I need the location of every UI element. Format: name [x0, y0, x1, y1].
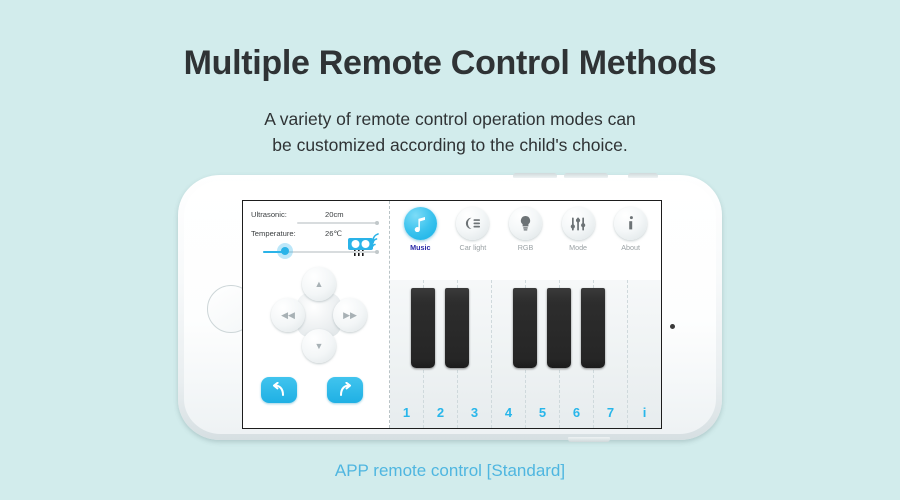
- temperature-readout: Temperature: 26℃: [251, 229, 296, 238]
- temperature-label: Temperature:: [251, 229, 296, 238]
- tab-about-circle: [614, 207, 647, 240]
- rotate-left-button[interactable]: [261, 377, 297, 403]
- mute-switch[interactable]: [628, 173, 658, 178]
- tab-about[interactable]: About: [609, 207, 653, 252]
- piano-black-key[interactable]: [445, 288, 469, 368]
- piano-white-key[interactable]: 4: [492, 280, 526, 428]
- rotate-right-icon: [336, 382, 354, 398]
- piano-key-label: 1: [390, 405, 423, 420]
- piano-black-key[interactable]: [411, 288, 435, 368]
- ultrasonic-sensor-icon: [347, 231, 381, 259]
- page-subtitle-line-2: be customized according to the child's c…: [0, 132, 900, 158]
- control-panel: Ultrasonic: 20cm Temperature: 26℃: [243, 201, 390, 428]
- tab-music[interactable]: Music: [398, 207, 442, 252]
- piano-white-key[interactable]: i: [628, 280, 661, 428]
- figure-caption: APP remote control [Standard]: [0, 461, 900, 481]
- page-subtitle: A variety of remote control operation mo…: [0, 106, 900, 158]
- page-subtitle-line-1: A variety of remote control operation mo…: [0, 106, 900, 132]
- phone-body: Ultrasonic: 20cm Temperature: 26℃: [184, 181, 716, 434]
- arrow-left-icon: ◀◀: [281, 310, 295, 321]
- music-note-icon: [413, 216, 428, 232]
- ultrasonic-readout: Ultrasonic: 20cm: [251, 210, 287, 219]
- tab-car-light-label: Car light: [451, 243, 495, 252]
- ultrasonic-value: 20cm: [325, 210, 344, 219]
- page-title: Multiple Remote Control Methods: [0, 44, 900, 83]
- piano-black-key[interactable]: [513, 288, 537, 368]
- tab-rgb-label: RGB: [503, 243, 547, 252]
- dpad-right-button[interactable]: ▶▶: [333, 298, 367, 332]
- tab-music-label: Music: [398, 243, 442, 252]
- tab-rgb[interactable]: RGB: [503, 207, 547, 252]
- phone-screen: Ultrasonic: 20cm Temperature: 26℃: [242, 200, 662, 429]
- ultrasonic-track-end-dot: [375, 221, 379, 225]
- lightbulb-icon: [519, 215, 532, 232]
- tab-car-light[interactable]: Car light: [451, 207, 495, 252]
- piano-keyboard: 1 2 3 4 5: [390, 280, 661, 428]
- piano-key-label: 2: [424, 405, 457, 420]
- tab-rgb-circle: [509, 207, 542, 240]
- ambient-light-sensor: [670, 324, 675, 329]
- tab-mode[interactable]: Mode: [556, 207, 600, 252]
- headlight-icon: [464, 217, 481, 230]
- info-icon: [626, 215, 636, 232]
- rotate-right-button[interactable]: [327, 377, 363, 403]
- arrow-up-icon: ▲: [315, 279, 324, 289]
- tab-mode-circle: [562, 207, 595, 240]
- rotate-left-icon: [270, 382, 288, 398]
- arrow-down-icon: ▼: [315, 341, 324, 351]
- tab-car-light-circle: [456, 207, 489, 240]
- tab-music-circle: [404, 207, 437, 240]
- piano-black-key[interactable]: [547, 288, 571, 368]
- piano-key-label: 7: [594, 405, 627, 420]
- power-button[interactable]: [568, 437, 610, 442]
- tab-about-label: About: [609, 243, 653, 252]
- dpad-down-button[interactable]: ▼: [302, 329, 336, 363]
- speed-slider-handle[interactable]: [277, 243, 293, 259]
- smartphone-device: Ultrasonic: 20cm Temperature: 26℃: [178, 175, 722, 440]
- dpad-left-button[interactable]: ◀◀: [271, 298, 305, 332]
- ultrasonic-track[interactable]: [297, 222, 377, 224]
- arrow-right-icon: ▶▶: [343, 310, 357, 321]
- tab-bar: Music Car light: [390, 207, 661, 252]
- volume-up-button[interactable]: [513, 173, 557, 178]
- speed-slider-end-dot: [375, 250, 379, 254]
- sliders-icon: [570, 216, 586, 232]
- piano-key-label: i: [628, 405, 661, 420]
- piano-black-key[interactable]: [581, 288, 605, 368]
- piano-white-key[interactable]: 1: [390, 280, 424, 428]
- piano-key-label: 6: [560, 405, 593, 420]
- volume-down-button[interactable]: [564, 173, 608, 178]
- ultrasonic-label: Ultrasonic:: [251, 210, 287, 219]
- tab-mode-label: Mode: [556, 243, 600, 252]
- temperature-value: 26℃: [325, 229, 342, 238]
- dpad-up-button[interactable]: ▲: [302, 267, 336, 301]
- direction-pad: ▲ ▼ ◀◀ ▶▶: [271, 267, 367, 363]
- piano-key-label: 3: [458, 405, 491, 420]
- piano-key-label: 4: [492, 405, 525, 420]
- piano-key-label: 5: [526, 405, 559, 420]
- music-panel: Music Car light: [390, 201, 661, 428]
